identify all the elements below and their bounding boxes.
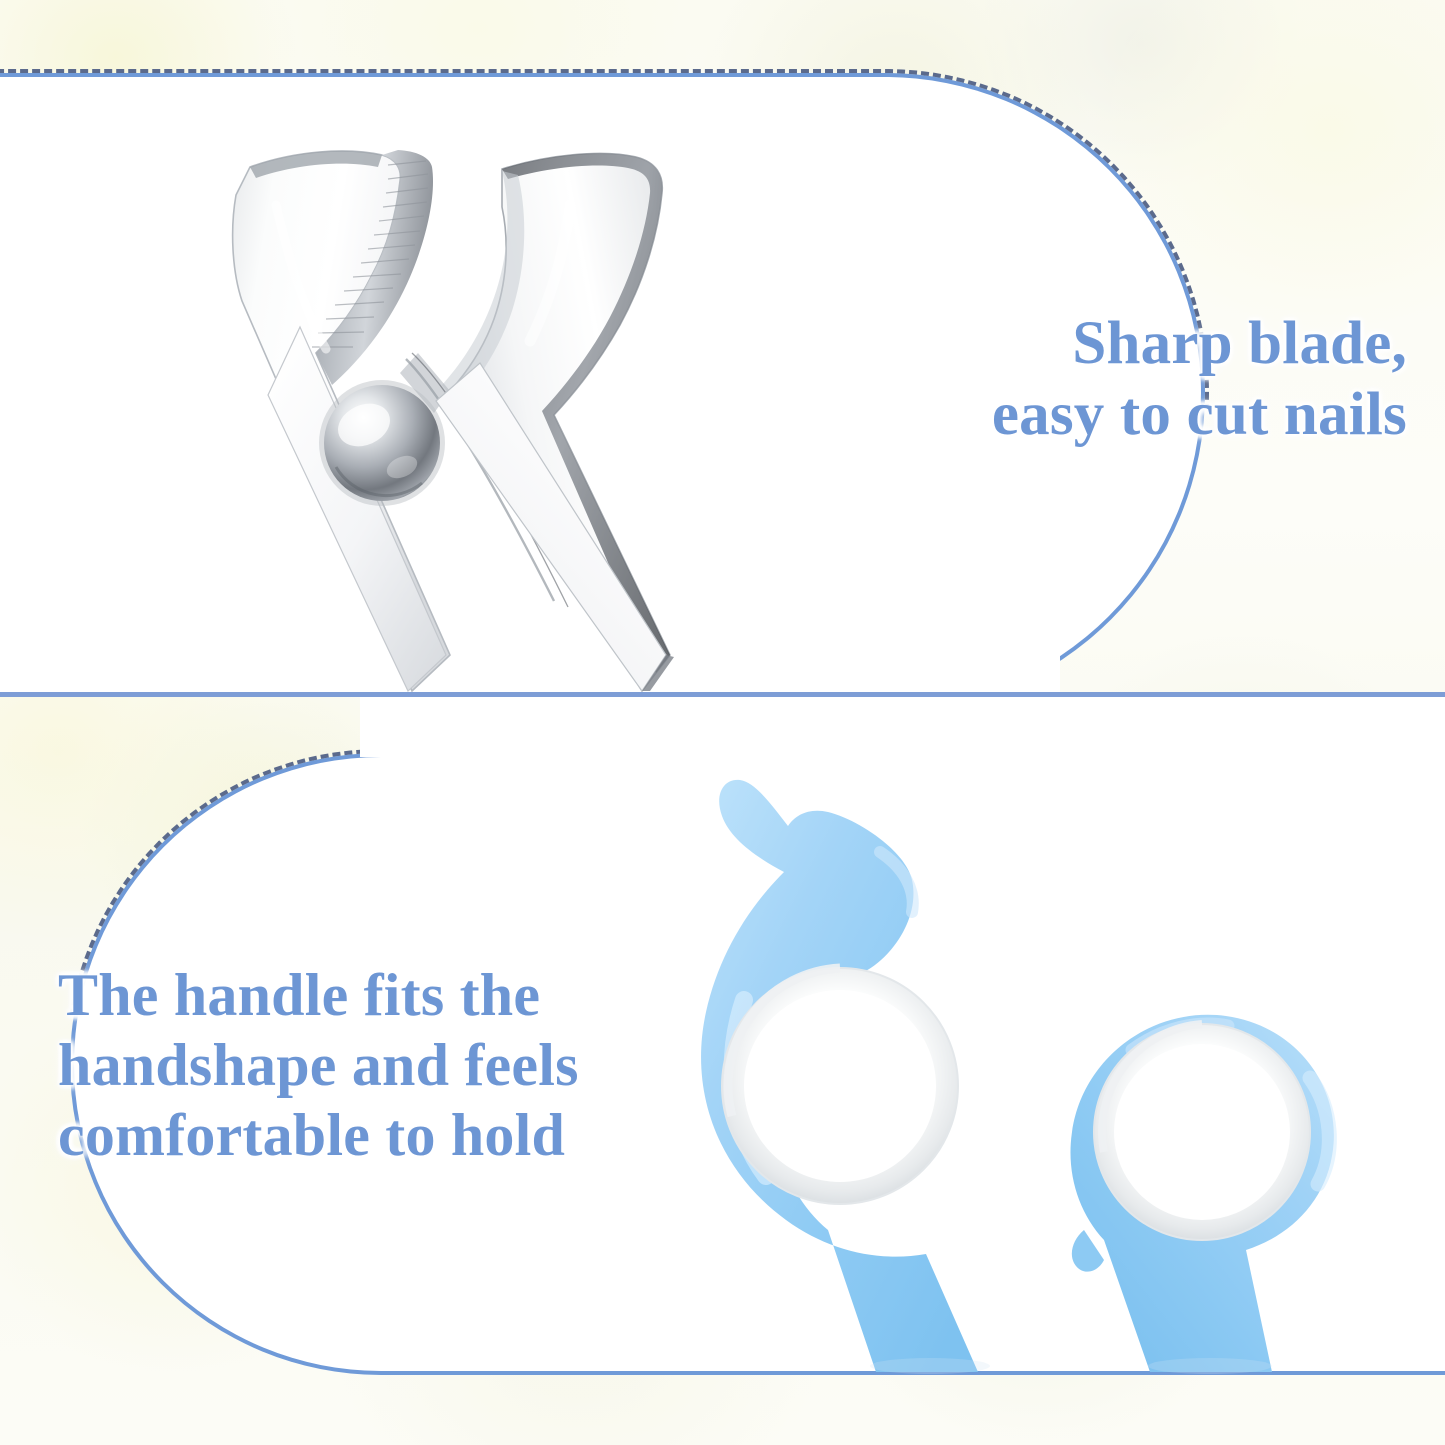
blue-silicone-handle-rings	[680, 760, 1400, 1385]
headline-top-line-2: easy to cut nails	[787, 379, 1407, 450]
product-infographic: Sharp blade, easy to cut nails	[0, 0, 1445, 1445]
metal-nail-clipper-blades	[150, 95, 730, 692]
headline-top-line-1: Sharp blade,	[787, 308, 1407, 379]
card-bottom-top-fill	[360, 697, 1445, 757]
headline-bottom-line-1: The handle fits the	[58, 960, 718, 1030]
feature-panel-top: Sharp blade, easy to cut nails	[0, 0, 1445, 692]
headline-top: Sharp blade, easy to cut nails	[787, 308, 1407, 451]
headline-bottom-line-2: handshape and feels	[58, 1030, 718, 1100]
headline-bottom: The handle fits the handshape and feels …	[58, 960, 718, 1171]
headline-bottom-line-3: comfortable to hold	[58, 1100, 718, 1170]
panel-divider	[0, 692, 1445, 697]
